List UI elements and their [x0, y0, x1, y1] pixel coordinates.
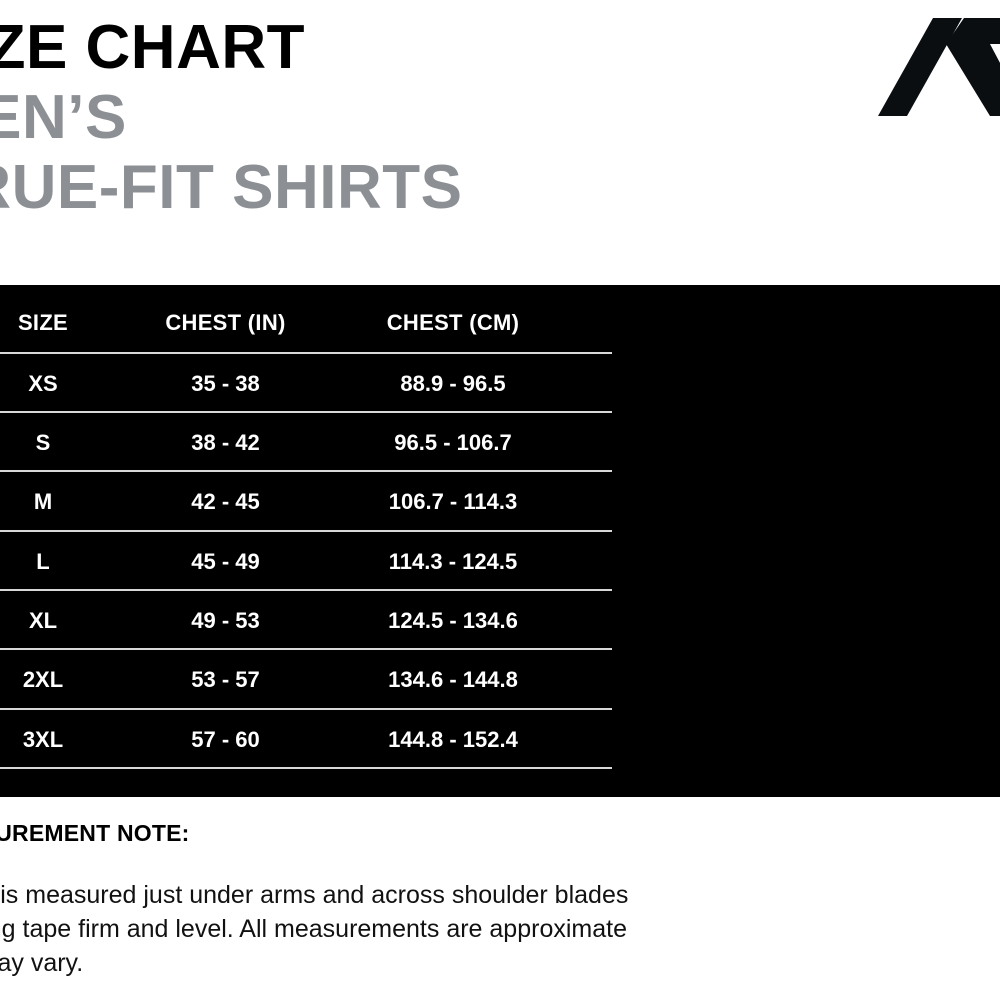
cell-chest-cm: 144.8 - 152.4 [323, 710, 583, 769]
cell-chest-in: 57 - 60 [138, 710, 313, 769]
cell-chest-in: 35 - 38 [138, 354, 313, 413]
table-row: 3XL 57 - 60 144.8 - 152.4 [0, 710, 612, 769]
cell-size: 2XL [0, 650, 128, 709]
measurement-note-title: MEASUREMENT NOTE: [0, 820, 190, 847]
cell-size: 3XL [0, 710, 128, 769]
measurement-note-body: Chest is measured just under arms and ac… [0, 878, 628, 980]
table-row: S 38 - 42 96.5 - 106.7 [0, 413, 612, 472]
header: SIZE CHART MEN’S TRUE-FIT SHIRTS [0, 0, 1000, 285]
size-table-panel: SIZE CHEST (IN) CHEST (CM) XS 35 - 38 88… [0, 285, 1000, 797]
divider [0, 767, 612, 769]
cell-chest-cm: 106.7 - 114.3 [323, 472, 583, 531]
table-row: L 45 - 49 114.3 - 124.5 [0, 532, 612, 591]
cell-chest-cm: 88.9 - 96.5 [323, 354, 583, 413]
cell-size: S [0, 413, 128, 472]
cell-size: M [0, 472, 128, 531]
table-row: XL 49 - 53 124.5 - 134.6 [0, 591, 612, 650]
column-header-size: SIZE [0, 293, 128, 352]
brand-logo-a-mark-icon [878, 18, 1000, 116]
size-chart-canvas: SIZE CHART MEN’S TRUE-FIT SHIRTS SIZE CH… [0, 0, 1000, 1000]
table-row: XS 35 - 38 88.9 - 96.5 [0, 354, 612, 413]
cell-chest-in: 49 - 53 [138, 591, 313, 650]
cell-size: XL [0, 591, 128, 650]
cell-chest-in: 45 - 49 [138, 532, 313, 591]
table-row: 2XL 53 - 57 134.6 - 144.8 [0, 650, 612, 709]
cell-chest-in: 42 - 45 [138, 472, 313, 531]
page-subtitle-product: TRUE-FIT SHIRTS [0, 157, 462, 219]
cell-chest-in: 38 - 42 [138, 413, 313, 472]
page-title: SIZE CHART [0, 17, 305, 79]
table-header-row: SIZE CHEST (IN) CHEST (CM) [0, 293, 612, 352]
cell-chest-cm: 124.5 - 134.6 [323, 591, 583, 650]
table-row: M 42 - 45 106.7 - 114.3 [0, 472, 612, 531]
brand-logo-icon [878, 18, 1000, 116]
column-header-chest-in: CHEST (IN) [138, 293, 313, 352]
cell-size: L [0, 532, 128, 591]
cell-chest-cm: 96.5 - 106.7 [323, 413, 583, 472]
cell-chest-cm: 134.6 - 144.8 [323, 650, 583, 709]
cell-size: XS [0, 354, 128, 413]
cell-chest-cm: 114.3 - 124.5 [323, 532, 583, 591]
cell-chest-in: 53 - 57 [138, 650, 313, 709]
page-subtitle-gender: MEN’S [0, 87, 127, 149]
column-header-chest-cm: CHEST (CM) [323, 293, 583, 352]
